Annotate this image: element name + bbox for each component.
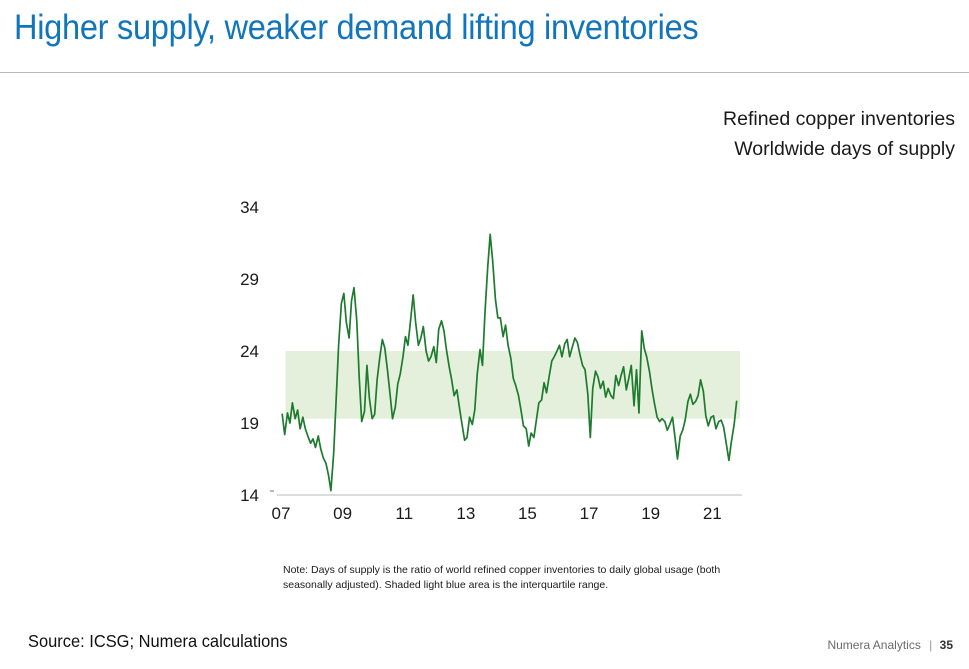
source-text: Source: ICSG; Numera calculations: [28, 631, 288, 652]
chart-title: Refined copper inventories: [723, 104, 955, 134]
axis-group: [270, 491, 742, 495]
x-tick-label: 07: [272, 504, 291, 523]
x-tick-label: 13: [456, 504, 475, 523]
x-tick-label: 19: [641, 504, 660, 523]
x-tick-label: 17: [580, 504, 599, 523]
footer-brand-name: Numera Analytics: [827, 638, 920, 652]
x-axis-tick-labels: 0709111315171921: [272, 504, 722, 523]
y-tick-label: 14: [240, 486, 259, 505]
header-divider: [0, 72, 969, 73]
footer-separator: |: [929, 638, 932, 652]
y-tick-label: 24: [240, 342, 259, 361]
page-title: Higher supply, weaker demand lifting inv…: [14, 6, 851, 50]
interquartile-range-band: [286, 351, 740, 419]
page-number: 35: [940, 638, 953, 652]
y-tick-label: 29: [240, 270, 259, 289]
x-tick-label: 21: [703, 504, 722, 523]
data-series-group: [282, 234, 736, 490]
chart-subtitle: Worldwide days of supply: [723, 134, 955, 164]
inventory-series-line: [282, 234, 736, 490]
x-tick-label: 09: [333, 504, 352, 523]
y-tick-label: 34: [240, 198, 259, 217]
interquartile-band-group: [286, 351, 740, 419]
x-tick-label: 11: [395, 504, 413, 523]
x-tick-label: 15: [518, 504, 537, 523]
chart-note: Note: Days of supply is the ratio of wor…: [283, 563, 735, 593]
y-tick-label: 19: [240, 414, 259, 433]
footer-brand: Numera Analytics | 35: [827, 638, 953, 652]
y-axis-tick-labels: 1419242934: [240, 198, 259, 505]
chart-caption: Refined copper inventories Worldwide day…: [723, 104, 955, 164]
